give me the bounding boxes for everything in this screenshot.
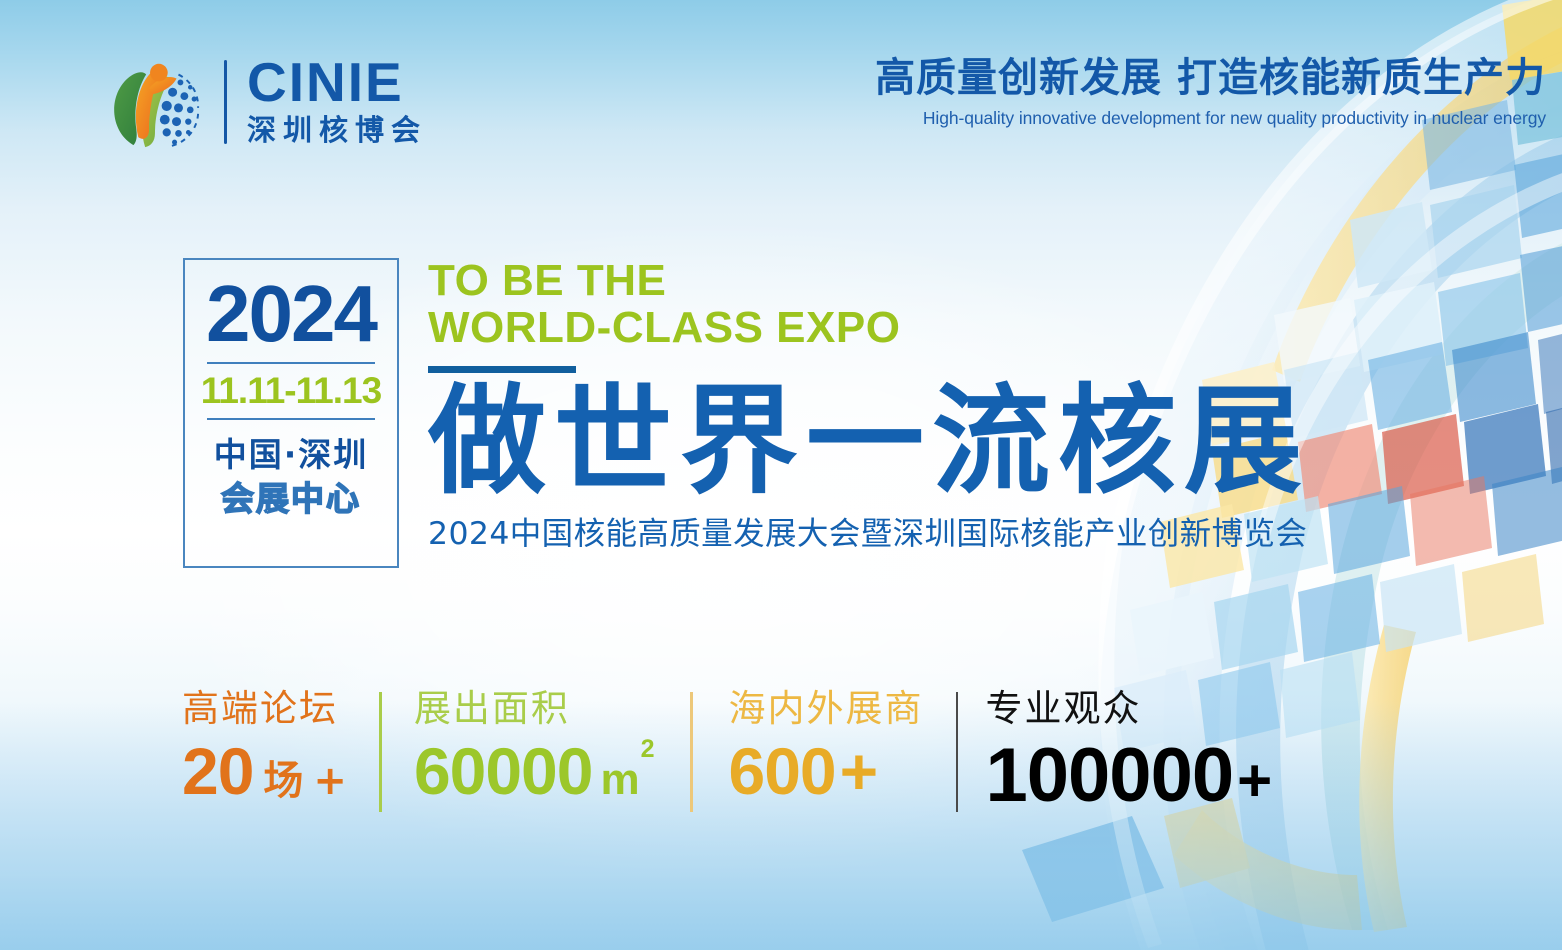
stat-item-exhibitors: 海内外展商 600 + <box>729 686 924 804</box>
stat-suffix: + <box>840 738 879 804</box>
stat-unit: 场 <box>263 748 303 806</box>
stat-divider-3 <box>956 692 958 812</box>
stat-item-visitors: 专业观众 100000 + <box>986 686 1273 814</box>
stat-number: 20 <box>182 738 253 804</box>
stat-item-exhibition-area: 展出面积 60000 m2 <box>414 686 654 804</box>
stat-value: 100000 + <box>986 738 1273 814</box>
logo-divider <box>224 60 227 144</box>
main-headline-group: TO BE THE WORLD-CLASS EXPO 做世界一流核展 2024中… <box>428 258 1310 554</box>
tagline-chinese: 高质量创新发展 打造核能新质生产力 <box>875 56 1546 101</box>
stat-item-forums: 高端论坛 20 场 + <box>182 686 347 806</box>
stat-divider-2 <box>690 692 693 812</box>
headline-english-line1: TO BE THE <box>428 258 1310 305</box>
event-city: 中国·深圳 <box>214 434 369 475</box>
logo-wordmark-group: CINIE 深圳核博会 <box>247 56 427 148</box>
tagline-english: High-quality innovative development for … <box>875 108 1546 129</box>
logo-wordmark-cn: 深圳核博会 <box>247 114 427 147</box>
headline-chinese: 做世界一流核展 <box>428 381 1310 501</box>
event-year: 2024 <box>206 276 376 352</box>
cinie-leaf-globe-logo-icon <box>104 52 202 152</box>
stat-value: 20 场 + <box>182 738 347 806</box>
brand-logo[interactable]: CINIE 深圳核博会 <box>104 52 427 152</box>
stat-divider-1 <box>379 692 382 812</box>
stat-number: 600 <box>729 738 836 804</box>
event-dates: 11.11-11.13 <box>201 368 381 414</box>
stat-label: 海内外展商 <box>729 686 924 732</box>
stat-label: 专业观众 <box>986 686 1273 732</box>
stat-suffix: + <box>313 758 347 804</box>
stat-number: 100000 <box>986 738 1234 814</box>
stat-unit: m2 <box>600 758 653 802</box>
stat-label: 高端论坛 <box>182 686 347 732</box>
event-date-box: 2024 11.11-11.13 中国·深圳 会展中心 <box>183 258 399 568</box>
date-divider-bottom <box>207 418 375 420</box>
headline-subtitle: 2024中国核能高质量发展大会暨深圳国际核能产业创新博览会 <box>428 508 1310 554</box>
stat-number: 60000 <box>414 738 593 804</box>
stat-label: 展出面积 <box>414 686 654 732</box>
poster-canvas: CINIE 深圳核博会 高质量创新发展 打造核能新质生产力 High-quali… <box>0 0 1562 950</box>
stat-unit-superscript: 2 <box>641 735 655 763</box>
logo-wordmark: CINIE <box>247 56 427 108</box>
top-tagline: 高质量创新发展 打造核能新质生产力 High-quality innovativ… <box>875 56 1546 129</box>
headline-english-line2: WORLD-CLASS EXPO <box>428 305 1310 352</box>
stat-value: 60000 m2 <box>414 738 654 804</box>
stats-row: 高端论坛 20 场 + 展出面积 60000 m2 海内外展商 600 + <box>182 686 1272 814</box>
stat-value: 600 + <box>729 738 924 804</box>
event-venue: 会展中心 <box>221 478 361 519</box>
date-divider-top <box>207 362 375 364</box>
stat-suffix: + <box>1237 751 1272 811</box>
